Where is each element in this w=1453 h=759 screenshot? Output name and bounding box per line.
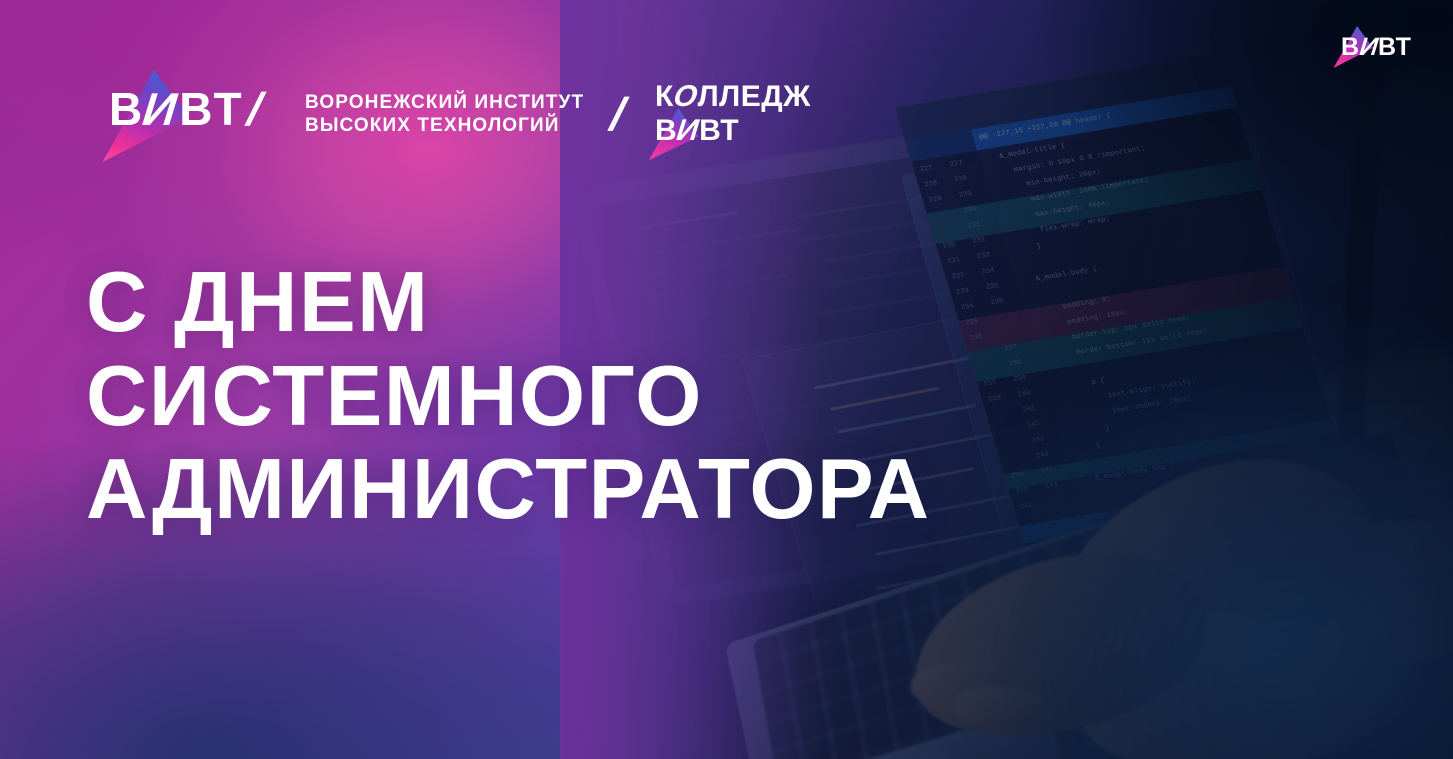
corner-vivt-logo[interactable]: ВИВТ (1329, 24, 1439, 70)
institute-subtitle: ВОРОНЕЖСКИЙ ИНСТИТУТ ВЫСОКИХ ТЕХНОЛОГИЙ (305, 91, 584, 137)
institute-subtitle-line2: ВЫСОКИХ ТЕХНОЛОГИЙ (305, 114, 584, 137)
headline-line-1: С ДНЕМ (86, 262, 931, 344)
vivt-letter-t: Т (214, 86, 243, 132)
banner-canvas: tpl.order </article> <p> } </article> } (0, 0, 1453, 759)
headline-line-3: АДМИНИСТРАТОРА (86, 449, 931, 531)
headline-line-2: СИСТЕМНОГО (86, 356, 931, 438)
page-title: С ДНЕМ СИСТЕМНОГО АДМИНИСТРАТОРА (86, 262, 931, 531)
lockup-separator: / (604, 87, 633, 141)
college-logo[interactable]: КОЛЛЕДЖ ВИВТ (655, 82, 811, 146)
vivt-letter-v2: В (179, 86, 213, 132)
logo-slash: / (242, 86, 270, 132)
vivt-letter-i: И (137, 86, 185, 132)
institute-subtitle-line1: ВОРОНЕЖСКИЙ ИНСТИТУТ (305, 91, 584, 114)
corner-vivt-wordmark: ВИВТ (1341, 33, 1411, 62)
vivt-wordmark: ВИВТ/ (109, 86, 262, 132)
logo-lockup[interactable]: ВИВТ/ ВОРОНЕЖСКИЙ ИНСТИТУТ ВЫСОКИХ ТЕХНО… (97, 66, 811, 162)
college-title: КОЛЛЕДЖ (655, 82, 811, 112)
vivt-logo-mark[interactable]: ВИВТ/ (97, 66, 279, 162)
college-vivt-wordmark: ВИВТ (655, 116, 811, 146)
